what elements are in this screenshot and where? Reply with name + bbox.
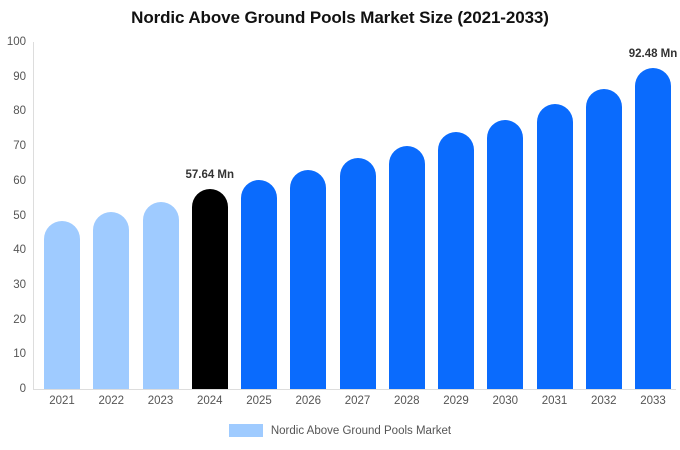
bar-2030[interactable]	[487, 120, 523, 389]
x-axis-tick-2029: 2029	[438, 395, 474, 407]
x-axis-tick-2030: 2030	[487, 395, 523, 407]
x-axis-tick-2023: 2023	[143, 395, 179, 407]
x-axis-tick-2022: 2022	[93, 395, 129, 407]
bar-2033[interactable]	[635, 68, 671, 389]
bar-slot-2022	[93, 42, 129, 389]
bar-2032[interactable]	[586, 89, 622, 389]
y-axis-tick-10: 10	[13, 348, 26, 360]
x-axis-tick-2032: 2032	[586, 395, 622, 407]
chart-container: Nordic Above Ground Pools Market Size (2…	[0, 0, 680, 450]
bar-slot-2026	[290, 42, 326, 389]
y-axis-tick-100: 100	[7, 36, 26, 48]
y-axis-tick-60: 60	[13, 175, 26, 187]
y-axis-tick-80: 80	[13, 105, 26, 117]
bar-slot-2029	[438, 42, 474, 389]
bar-2021[interactable]	[44, 221, 80, 389]
chart-legend: Nordic Above Ground Pools Market	[0, 424, 680, 437]
y-axis-tick-0: 0	[20, 383, 26, 395]
bar-slot-2027	[340, 42, 376, 389]
bar-2024[interactable]	[192, 189, 228, 389]
bar-slot-2025	[241, 42, 277, 389]
y-axis-tick-70: 70	[13, 140, 26, 152]
bar-2028[interactable]	[389, 146, 425, 389]
y-axis-tick-40: 40	[13, 244, 26, 256]
y-axis-tick-20: 20	[13, 314, 26, 326]
x-axis-tick-2031: 2031	[537, 395, 573, 407]
y-axis-tick-90: 90	[13, 71, 26, 83]
x-axis-tick-2025: 2025	[241, 395, 277, 407]
x-axis-tick-2024: 2024	[192, 395, 228, 407]
bar-2025[interactable]	[241, 180, 277, 389]
chart-title: Nordic Above Ground Pools Market Size (2…	[0, 8, 680, 28]
x-axis-tick-2028: 2028	[389, 395, 425, 407]
y-axis-tick-50: 50	[13, 210, 26, 222]
bar-slot-2028	[389, 42, 425, 389]
bar-2026[interactable]	[290, 170, 326, 389]
bar-value-label-2033: 92.48 Mn	[629, 48, 678, 60]
bar-2023[interactable]	[143, 202, 179, 389]
plot-area: 57.64 Mn92.48 Mn	[33, 42, 676, 389]
bar-2029[interactable]	[438, 132, 474, 389]
bar-slot-2032	[586, 42, 622, 389]
x-axis-tick-2027: 2027	[340, 395, 376, 407]
bar-slot-2024: 57.64 Mn	[192, 42, 228, 389]
x-axis-tick-2033: 2033	[635, 395, 671, 407]
bar-slot-2030	[487, 42, 523, 389]
y-axis-tick-30: 30	[13, 279, 26, 291]
bar-slot-2023	[143, 42, 179, 389]
bar-slot-2031	[537, 42, 573, 389]
x-axis-tick-2021: 2021	[44, 395, 80, 407]
bar-slot-2033: 92.48 Mn	[635, 42, 671, 389]
bar-2031[interactable]	[537, 104, 573, 389]
legend-label-nordic-above-ground-pools-market: Nordic Above Ground Pools Market	[271, 425, 451, 437]
legend-swatch-nordic-above-ground-pools-market	[229, 424, 263, 437]
bar-2022[interactable]	[93, 212, 129, 389]
x-axis-tick-2026: 2026	[290, 395, 326, 407]
bar-value-label-2024: 57.64 Mn	[185, 169, 234, 181]
x-axis-line	[33, 389, 676, 390]
bar-slot-2021	[44, 42, 80, 389]
bar-2027[interactable]	[340, 158, 376, 389]
